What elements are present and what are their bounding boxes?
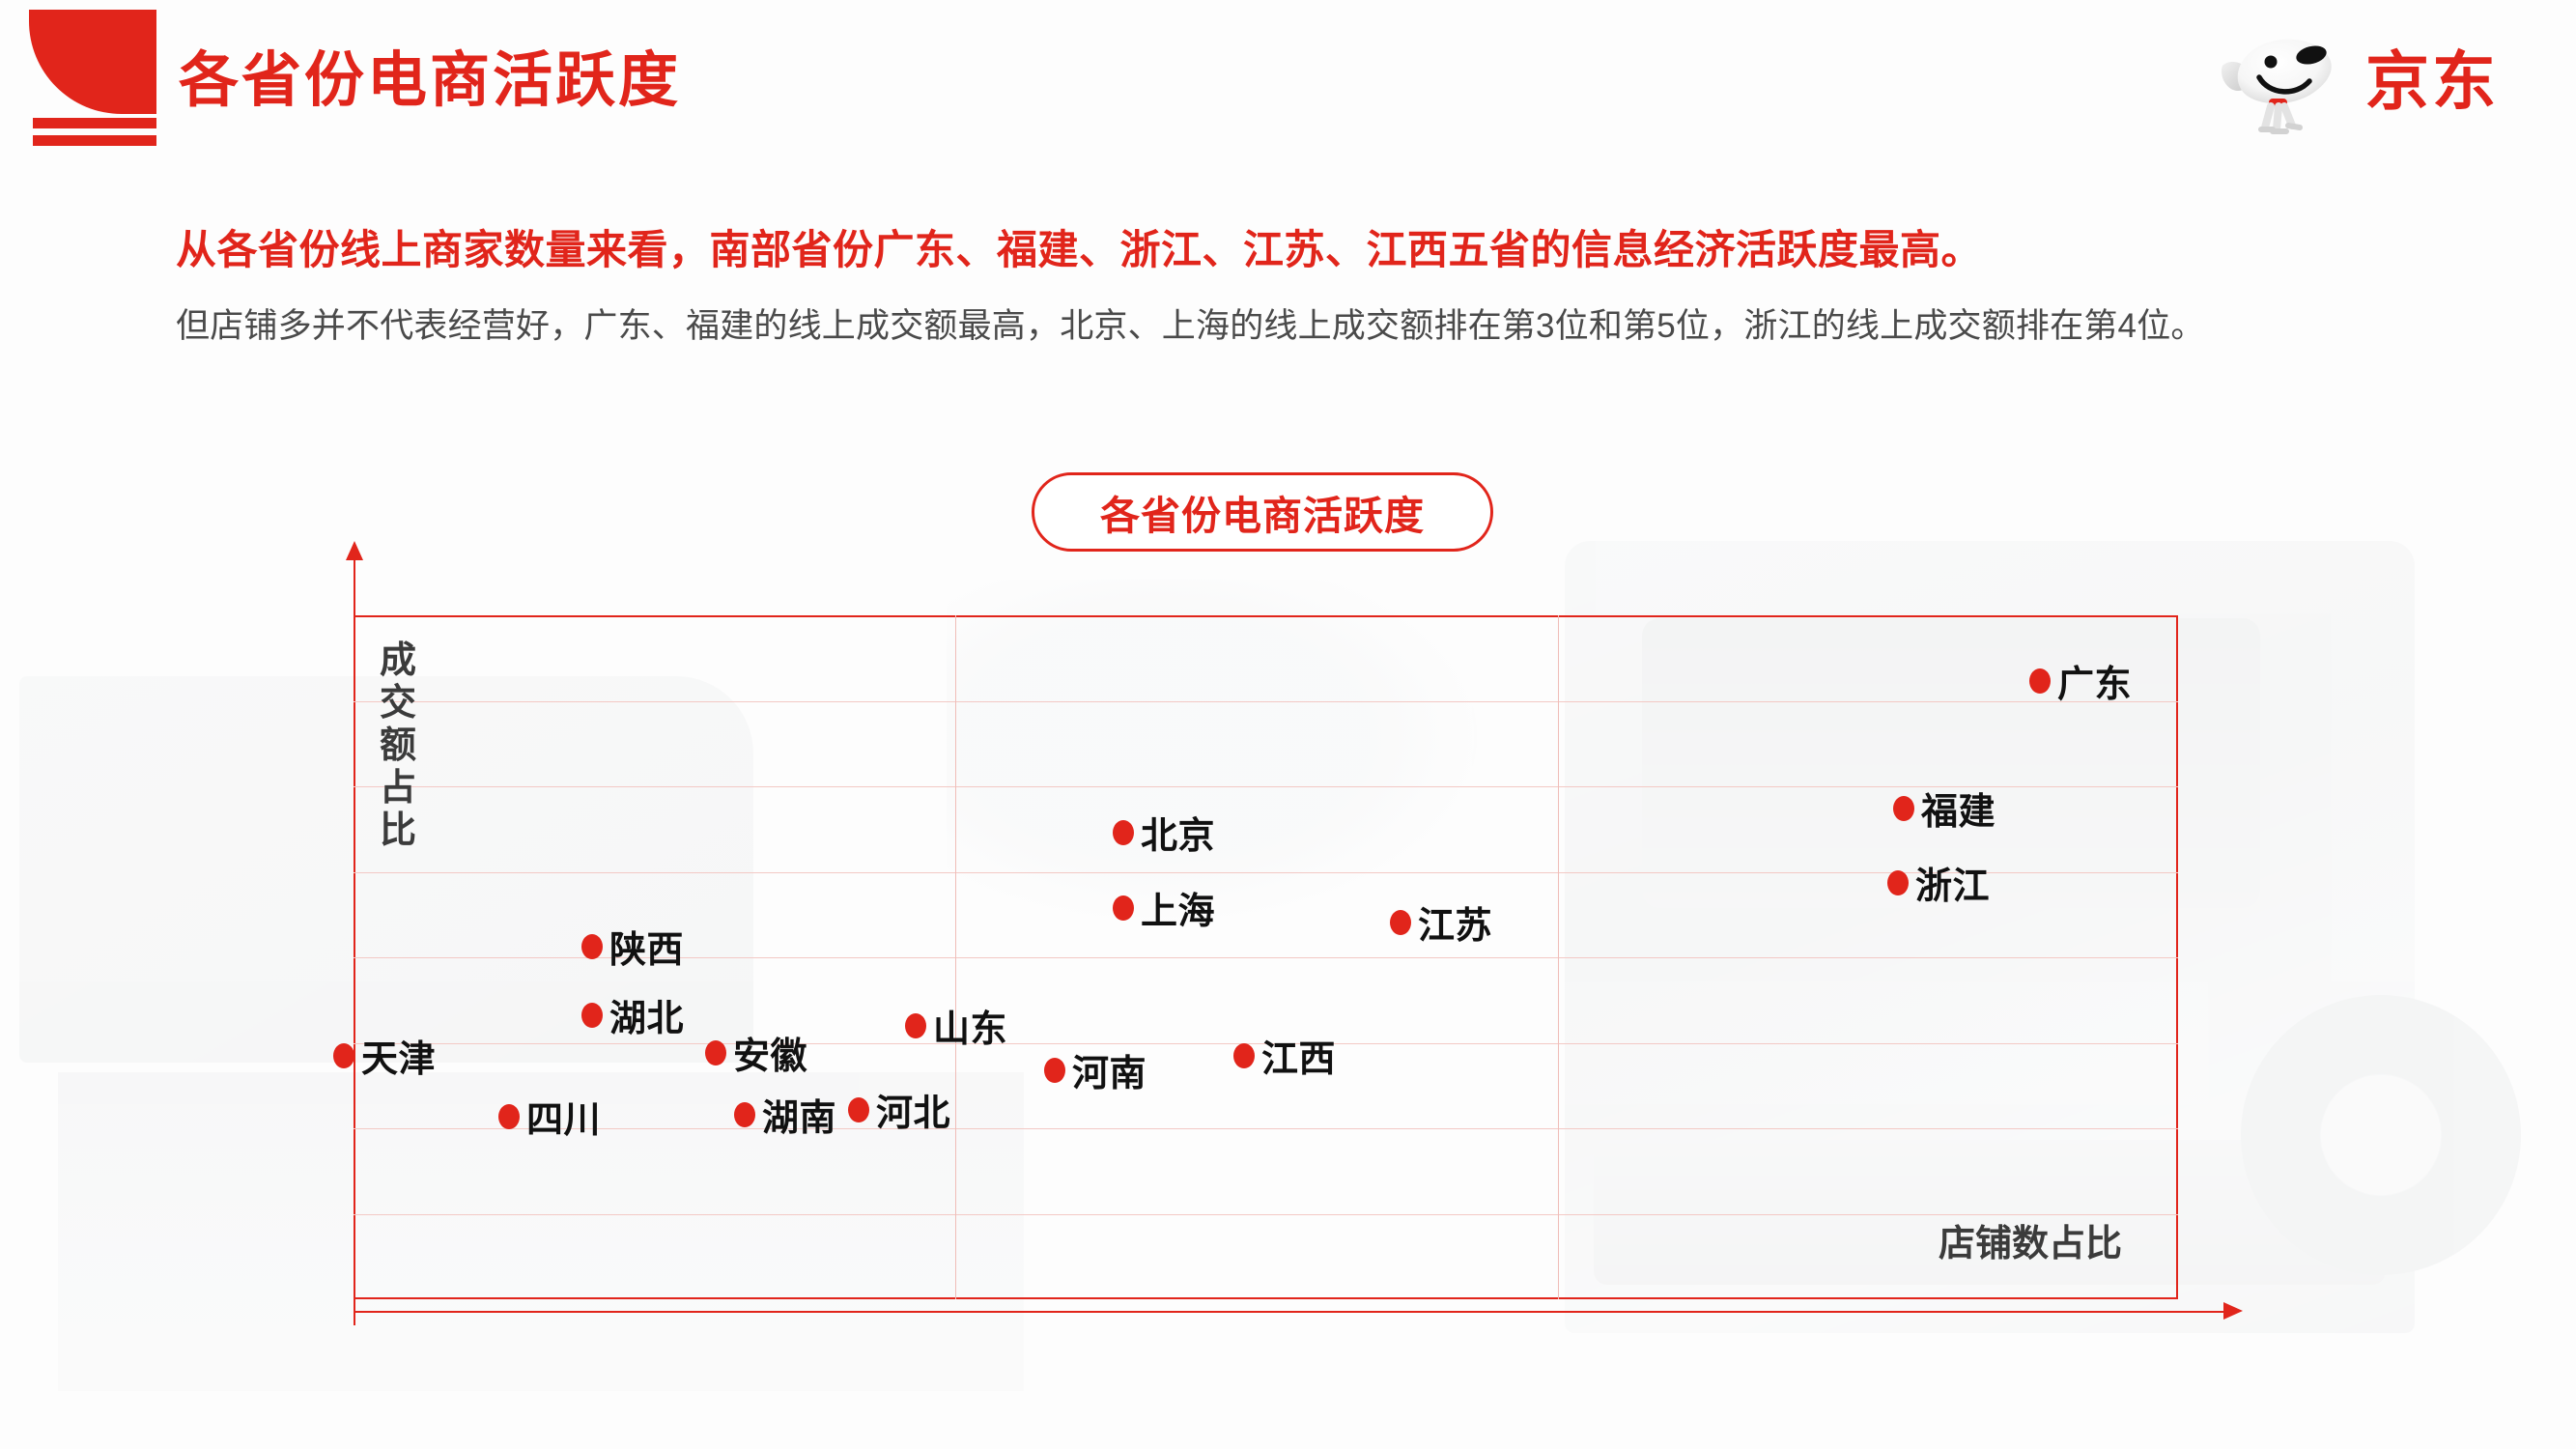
- data-point-dot-icon: [1044, 1058, 1065, 1083]
- data-point-label: 北京: [1141, 806, 1215, 859]
- data-point-label: 江苏: [1418, 895, 1492, 949]
- data-point-label: 河北: [876, 1083, 950, 1136]
- data-point-dot-icon: [1233, 1043, 1255, 1068]
- data-point[interactable]: 山东: [905, 999, 1007, 1052]
- watermark-truck-bumper-shape: [1594, 1140, 2386, 1285]
- data-point[interactable]: 安徽: [705, 1026, 807, 1079]
- data-point-label: 江西: [1261, 1029, 1336, 1082]
- y-axis-line: [354, 553, 355, 1325]
- gridline-horizontal: [354, 701, 2178, 702]
- jd-logo-wordmark: 京东: [2365, 49, 2499, 113]
- header-swoosh-mark-icon: [29, 10, 164, 145]
- data-point[interactable]: 河南: [1044, 1043, 1146, 1096]
- gridline-horizontal: [354, 786, 2178, 787]
- data-point-label: 湖北: [609, 988, 684, 1041]
- watermark-ship-shape: [19, 676, 753, 1063]
- y-axis-arrow-icon: [346, 541, 363, 560]
- data-point-dot-icon: [581, 1003, 603, 1028]
- jd-logo: 京东: [2217, 27, 2499, 135]
- data-point[interactable]: 广东: [2029, 654, 2132, 707]
- jd-joy-dog-icon: [2217, 27, 2352, 135]
- data-point-dot-icon: [581, 934, 603, 959]
- y-axis-label: 成交额占比: [375, 639, 421, 852]
- gridline-horizontal: [354, 1214, 2178, 1215]
- swoosh-bar-top: [33, 118, 156, 128]
- data-point-dot-icon: [498, 1104, 520, 1129]
- data-point-dot-icon: [1893, 796, 1914, 821]
- gridline-horizontal: [354, 1043, 2178, 1044]
- data-point-dot-icon: [1113, 820, 1134, 845]
- x-axis-label: 店铺数占比: [1939, 1213, 2122, 1266]
- data-point[interactable]: 陕西: [581, 920, 684, 973]
- data-point[interactable]: 河北: [848, 1083, 950, 1136]
- data-point[interactable]: 江苏: [1390, 895, 1492, 949]
- swoosh-shape: [29, 10, 156, 114]
- page-title: 各省份电商活跃度: [179, 31, 681, 118]
- gridline-horizontal: [354, 872, 2178, 873]
- data-point-label: 浙江: [1915, 856, 1990, 909]
- data-point-dot-icon: [734, 1102, 755, 1127]
- data-point[interactable]: 湖北: [581, 988, 684, 1041]
- data-point[interactable]: 北京: [1113, 806, 1215, 859]
- gridline-horizontal: [354, 957, 2178, 958]
- data-point-dot-icon: [848, 1097, 869, 1122]
- data-point[interactable]: 上海: [1113, 881, 1215, 934]
- watermark-truck-window-shape: [1642, 618, 2260, 908]
- data-point[interactable]: 四川: [498, 1090, 601, 1143]
- data-point-label: 山东: [933, 999, 1007, 1052]
- gridline-horizontal: [354, 1128, 2178, 1129]
- data-point-label: 陕西: [609, 920, 684, 973]
- data-point-dot-icon: [705, 1040, 726, 1065]
- data-point[interactable]: 浙江: [1887, 856, 1990, 909]
- data-point[interactable]: 福建: [1893, 781, 1996, 835]
- gridline-vertical: [1558, 615, 1559, 1299]
- data-point[interactable]: 天津: [333, 1029, 436, 1082]
- swoosh-bar-bottom: [33, 135, 156, 146]
- watermark-truck-body-shape: [1565, 541, 2415, 1333]
- data-point-dot-icon: [1887, 870, 1909, 895]
- data-point-label: 湖南: [762, 1088, 836, 1141]
- watermark-crate-shape: [58, 1072, 1024, 1391]
- data-point-dot-icon: [1113, 895, 1134, 921]
- data-point-label: 广东: [2057, 654, 2132, 707]
- x-axis-line: [354, 1311, 2227, 1313]
- chart-title-badge-label: 各省份电商活跃度: [1100, 483, 1425, 541]
- body-paragraph: 但店铺多并不代表经营好，广东、福建的线上成交额最高，北京、上海的线上成交额排在第…: [176, 299, 2368, 355]
- data-point[interactable]: 江西: [1233, 1029, 1336, 1082]
- data-point-label: 四川: [526, 1090, 601, 1143]
- data-point-dot-icon: [2029, 668, 2051, 694]
- data-point-label: 福建: [1921, 781, 1996, 835]
- slide-root: 各省份电商活跃度 京东: [0, 0, 2576, 1449]
- data-point-dot-icon: [905, 1013, 926, 1038]
- data-point-label: 天津: [361, 1029, 436, 1082]
- gridline-vertical: [955, 615, 956, 1299]
- lead-paragraph: 从各省份线上商家数量来看，南部省份广东、福建、浙江、江苏、江西五省的信息经济活跃…: [176, 217, 2426, 276]
- data-point-label: 上海: [1141, 881, 1215, 934]
- data-point-dot-icon: [333, 1043, 354, 1068]
- x-axis-arrow-icon: [2223, 1302, 2243, 1320]
- data-point-label: 河南: [1072, 1043, 1146, 1096]
- plot-frame: [354, 615, 2178, 1299]
- watermark-truck-wheel-shape: [2241, 995, 2521, 1275]
- data-point-label: 安徽: [733, 1026, 807, 1079]
- chart-title-badge: 各省份电商活跃度: [1032, 472, 1493, 552]
- watermark-plane-shape: [947, 580, 1487, 927]
- data-point[interactable]: 湖南: [734, 1088, 836, 1141]
- data-point-dot-icon: [1390, 910, 1411, 935]
